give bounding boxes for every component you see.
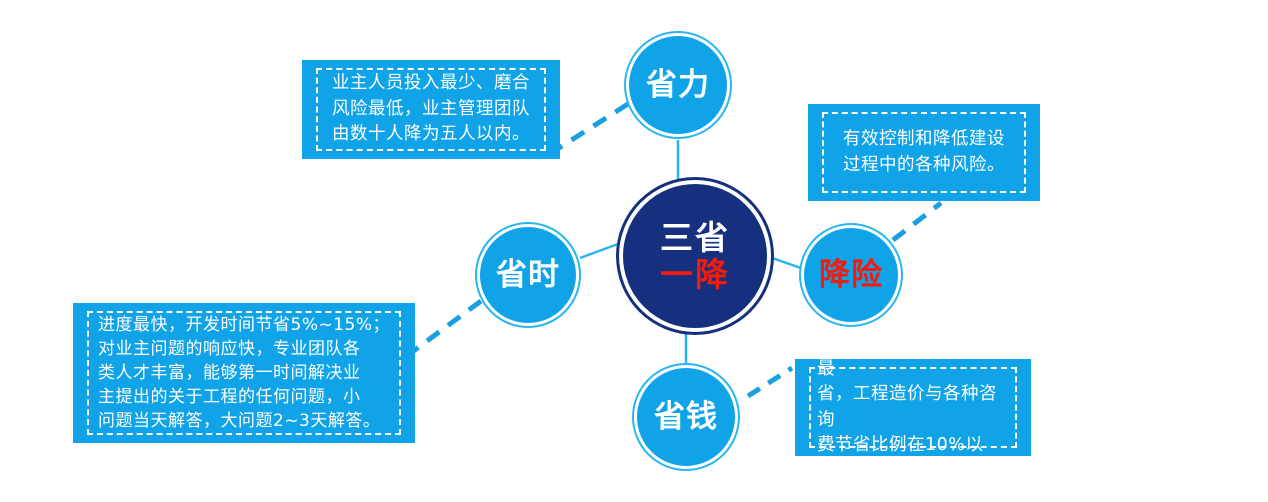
- node-shengli[interactable]: 省力: [626, 33, 730, 137]
- node-shengqian-label: 省钱: [654, 402, 718, 433]
- callout-shengqian-frame: 工程造价与各种咨询费最 省，工程造价与各种咨询 费节省比例在10%以上。: [809, 367, 1017, 448]
- callout-shengli-text: 业主人员投入最少、磨合 风险最低，业主管理团队 由数十人降为五人以内。: [332, 71, 530, 147]
- center-label-top: 三省: [660, 221, 730, 254]
- leader-shengli: [548, 104, 628, 155]
- node-jiangxian[interactable]: 降险: [801, 225, 901, 325]
- callout-jiangxian-frame: 有效控制和降低建设 过程中的各种风险。: [822, 112, 1026, 193]
- node-shengshi-label: 省时: [496, 260, 560, 291]
- leader-shengshi: [404, 301, 481, 358]
- leader-jiangxian: [893, 203, 941, 240]
- callout-shengshi-text: 进度最快，开发时间节省5%~15%； 对业主问题的响应快，专业团队各 类人才丰富…: [98, 313, 390, 434]
- diagram-canvas: 省力 降险 省钱 省时 三省 一降 业主人员投入最少、磨合 风险最低，业主管理团…: [0, 0, 1268, 502]
- callout-jiangxian-text: 有效控制和降低建设 过程中的各种风险。: [843, 127, 1005, 178]
- node-jiangxian-label: 降险: [819, 260, 883, 291]
- callout-shengli-frame: 业主人员投入最少、磨合 风险最低，业主管理团队 由数十人降为五人以内。: [316, 68, 546, 151]
- node-shengqian[interactable]: 省钱: [634, 365, 738, 469]
- callout-shengli: 业主人员投入最少、磨合 风险最低，业主管理团队 由数十人降为五人以内。: [302, 60, 560, 159]
- callout-shengshi-frame: 进度最快，开发时间节省5%~15%； 对业主问题的响应快，专业团队各 类人才丰富…: [87, 311, 401, 435]
- node-shengshi[interactable]: 省时: [477, 224, 579, 326]
- callout-shengqian: 工程造价与各种咨询费最 省，工程造价与各种咨询 费节省比例在10%以上。: [795, 359, 1031, 456]
- callout-shengshi: 进度最快，开发时间节省5%~15%； 对业主问题的响应快，专业团队各 类人才丰富…: [73, 303, 415, 443]
- leader-shengqian: [748, 368, 792, 396]
- spoke-center-jiangxian: [772, 258, 801, 268]
- node-shengli-label: 省力: [646, 70, 710, 101]
- callout-shengqian-text: 工程造价与各种咨询费最 省，工程造价与各种咨询 费节省比例在10%以上。: [817, 331, 1009, 483]
- center-label-stack: 三省 一降: [660, 221, 730, 291]
- spoke-center-shengshi: [580, 244, 618, 258]
- center-node[interactable]: 三省 一降: [619, 180, 771, 332]
- center-label-bottom: 一降: [660, 258, 730, 291]
- callout-jiangxian: 有效控制和降低建设 过程中的各种风险。: [808, 104, 1040, 201]
